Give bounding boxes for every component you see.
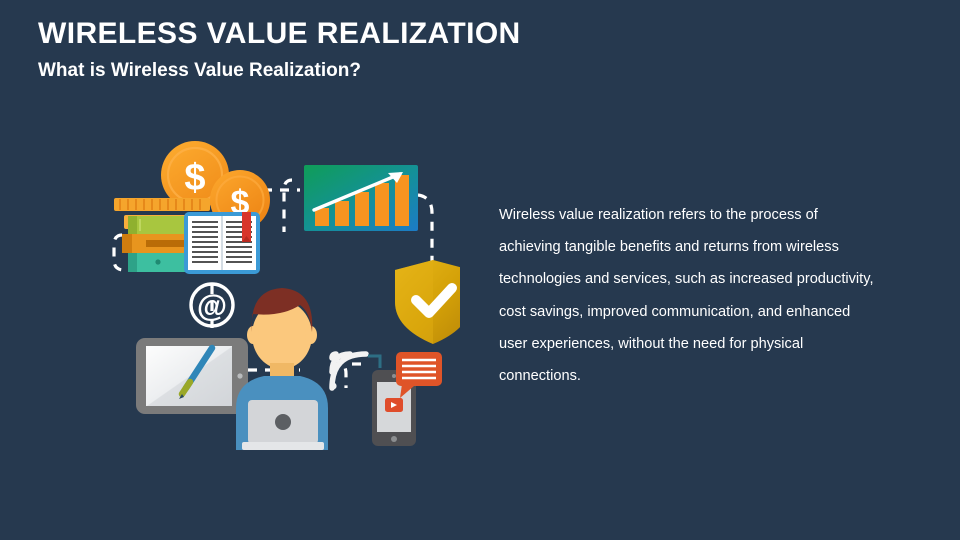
body-paragraph: Wireless value realization refers to the… [499,199,874,392]
wifi-signal-icon [329,354,366,390]
concept-illustration: $ $ [100,120,460,450]
at-symbol-icon: @ [191,284,233,326]
illustration-canvas: $ $ [100,120,460,450]
page-subtitle: What is Wireless Value Realization? [38,60,361,82]
page-title: WIRELESS VALUE REALIZATION [38,17,521,51]
open-book [184,212,260,274]
slide-canvas: WIRELESS VALUE REALIZATION What is Wirel… [0,0,960,540]
svg-text:$: $ [184,157,205,199]
chat-bubble-icon [396,352,442,398]
svg-text:@: @ [197,288,227,323]
growth-chart-card [304,165,418,231]
wifi-bracket [368,356,380,368]
tablet-stylus [136,338,248,414]
security-shield [395,260,460,344]
